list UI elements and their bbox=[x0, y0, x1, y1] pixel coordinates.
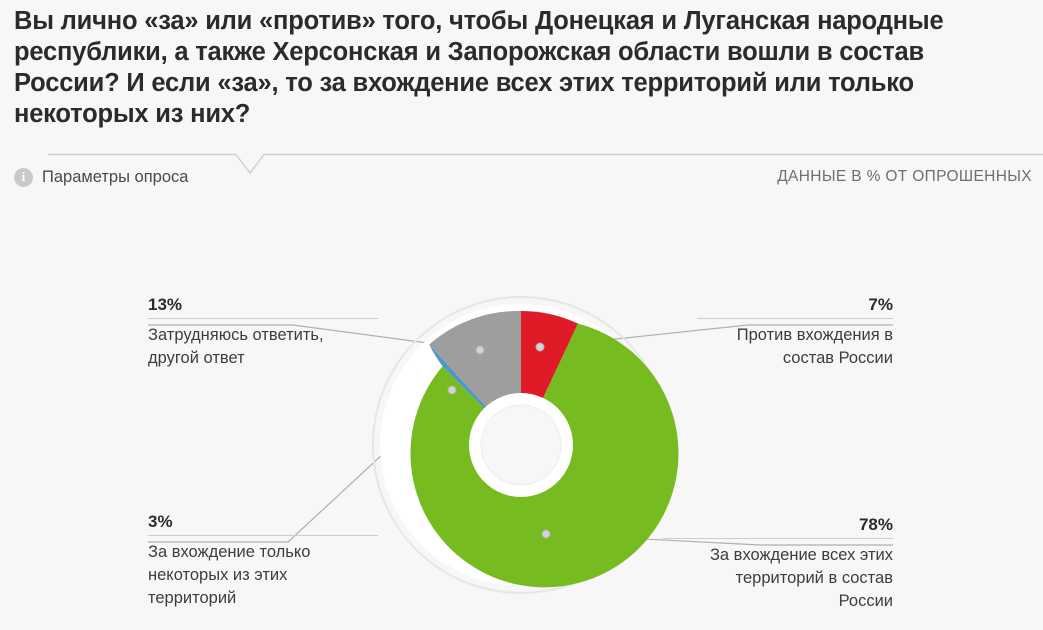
poll-params-label: Параметры опроса bbox=[42, 168, 188, 187]
poll-params-toggle[interactable]: i Параметры опроса bbox=[14, 168, 188, 187]
leader-dot-13 bbox=[476, 346, 484, 354]
callout-undecided: 13% Затрудняюсь ответить, другой ответ bbox=[148, 295, 378, 370]
page-title: Вы лично «за» или «против» того, чтобы Д… bbox=[14, 6, 1014, 130]
callout-against: 7% Против вхождения в состав России bbox=[697, 295, 893, 370]
callout-for-some: 3% За вхождение только некоторых из этих… bbox=[148, 512, 378, 610]
leader-dot-78 bbox=[542, 530, 550, 538]
callout-for-all-value: 78% bbox=[663, 515, 893, 538]
callout-undecided-value: 13% bbox=[148, 295, 378, 318]
callout-undecided-label: Затрудняюсь ответить, другой ответ bbox=[148, 319, 378, 370]
callout-against-value: 7% bbox=[697, 295, 893, 318]
leader-dot-3 bbox=[448, 386, 456, 394]
callout-for-all: 78% За вхождение всех этих территорий в … bbox=[663, 515, 893, 613]
callout-for-some-label: За вхождение только некоторых из этих те… bbox=[148, 536, 378, 610]
donut-hole-inner bbox=[481, 405, 561, 485]
donut-chart: 13% Затрудняюсь ответить, другой ответ 7… bbox=[0, 200, 1043, 630]
poll-infographic: Вы лично «за» или «против» того, чтобы Д… bbox=[0, 0, 1043, 630]
info-icon: i bbox=[14, 168, 33, 187]
units-note: ДАННЫЕ В % ОТ ОПРОШЕННЫХ bbox=[777, 168, 1032, 186]
leader-dot-7 bbox=[536, 343, 544, 351]
callout-for-some-value: 3% bbox=[148, 512, 378, 535]
callout-for-all-label: За вхождение всех этих территорий в сост… bbox=[663, 539, 893, 613]
callout-against-label: Против вхождения в состав России bbox=[697, 319, 893, 370]
